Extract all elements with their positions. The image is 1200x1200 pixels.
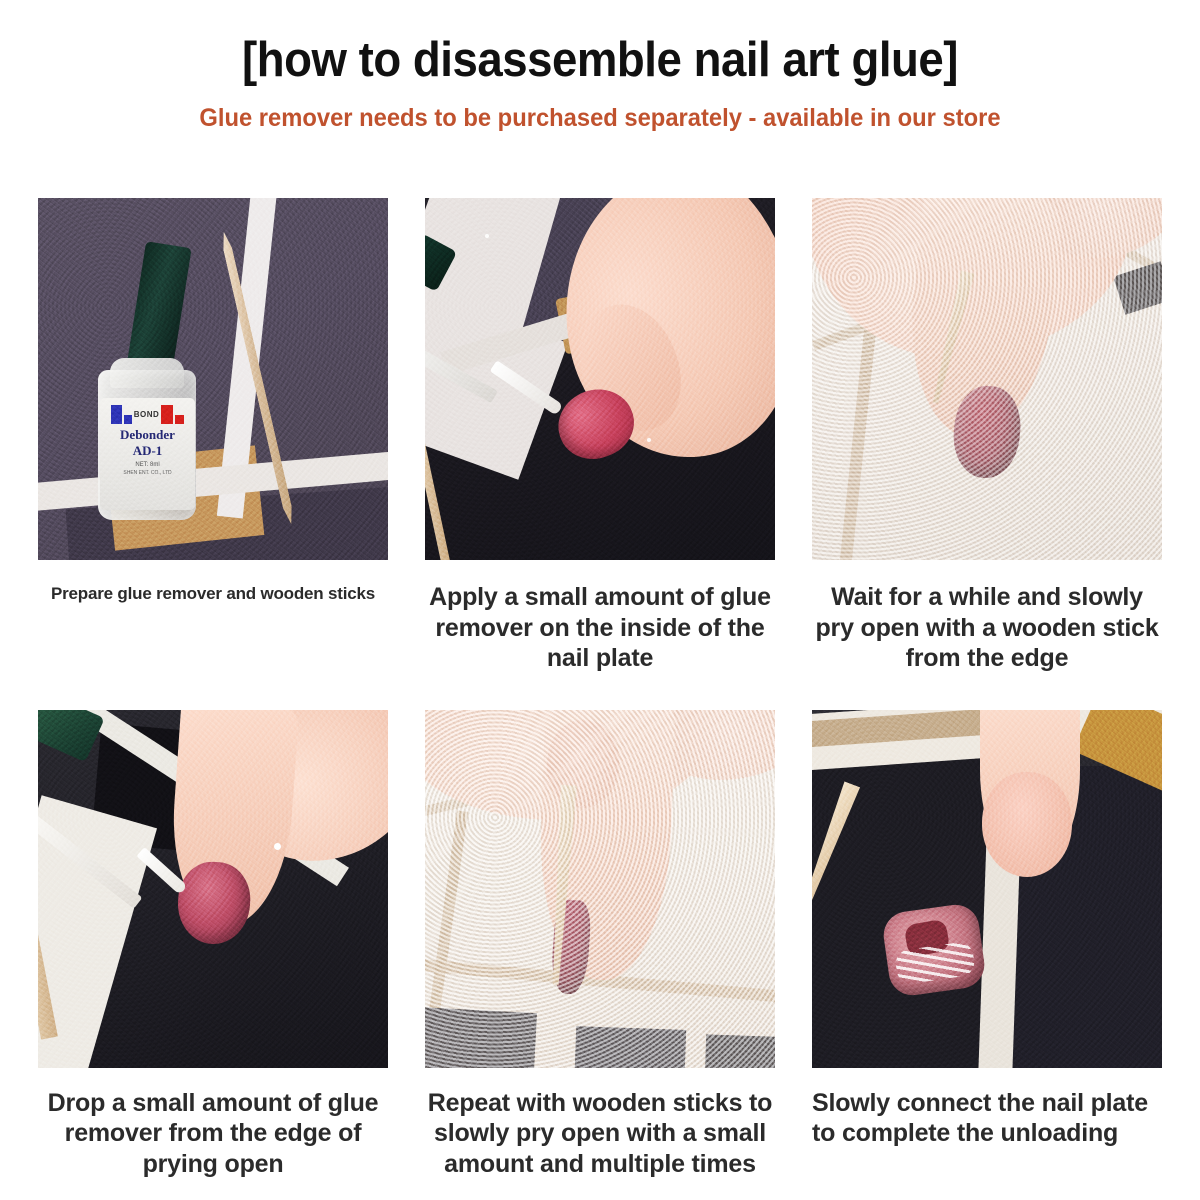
- page-title: [how to disassemble nail art glue]: [42, 34, 1158, 87]
- texture-overlay: [425, 198, 775, 560]
- texture-overlay: [425, 710, 775, 1068]
- step-card-2: Apply a small amount of glue remover on …: [425, 198, 775, 674]
- steps-grid: BOND Debonder AD-1 NET: 8ml SHEN ENT. CO…: [38, 198, 1164, 1179]
- steps-row-2: Drop a small amount of glue remover from…: [38, 710, 1164, 1180]
- step-caption-3: Wait for a while and slowly pry open wit…: [812, 582, 1162, 674]
- step-caption-5: Repeat with wooden sticks to slowly pry …: [425, 1088, 775, 1180]
- step-caption-4: Drop a small amount of glue remover from…: [38, 1088, 388, 1180]
- step-card-3: Wait for a while and slowly pry open wit…: [812, 198, 1162, 674]
- infographic-page: [how to disassemble nail art glue] Glue …: [0, 0, 1200, 1200]
- step-image-2: [425, 198, 775, 560]
- header: [how to disassemble nail art glue] Glue …: [0, 0, 1200, 133]
- step-image-3: [812, 198, 1162, 560]
- texture-overlay: [38, 710, 388, 1068]
- step-image-5: [425, 710, 775, 1068]
- step-caption-2: Apply a small amount of glue remover on …: [425, 582, 775, 674]
- step-card-6: Slowly connect the nail plate to complet…: [812, 710, 1162, 1180]
- step-caption-1: Prepare glue remover and wooden sticks: [38, 584, 388, 605]
- step-card-1: BOND Debonder AD-1 NET: 8ml SHEN ENT. CO…: [38, 198, 388, 674]
- step-caption-6: Slowly connect the nail plate to complet…: [812, 1088, 1162, 1149]
- step-image-6: [812, 710, 1162, 1068]
- step-image-4: [38, 710, 388, 1068]
- texture-overlay: [812, 710, 1162, 1068]
- step-image-1: BOND Debonder AD-1 NET: 8ml SHEN ENT. CO…: [38, 198, 388, 560]
- step-card-5: Repeat with wooden sticks to slowly pry …: [425, 710, 775, 1180]
- page-subtitle: Glue remover needs to be purchased separ…: [30, 104, 1170, 133]
- step-card-4: Drop a small amount of glue remover from…: [38, 710, 388, 1180]
- texture-overlay: [812, 198, 1162, 560]
- texture-overlay: [38, 198, 388, 560]
- steps-row-1: BOND Debonder AD-1 NET: 8ml SHEN ENT. CO…: [38, 198, 1164, 674]
